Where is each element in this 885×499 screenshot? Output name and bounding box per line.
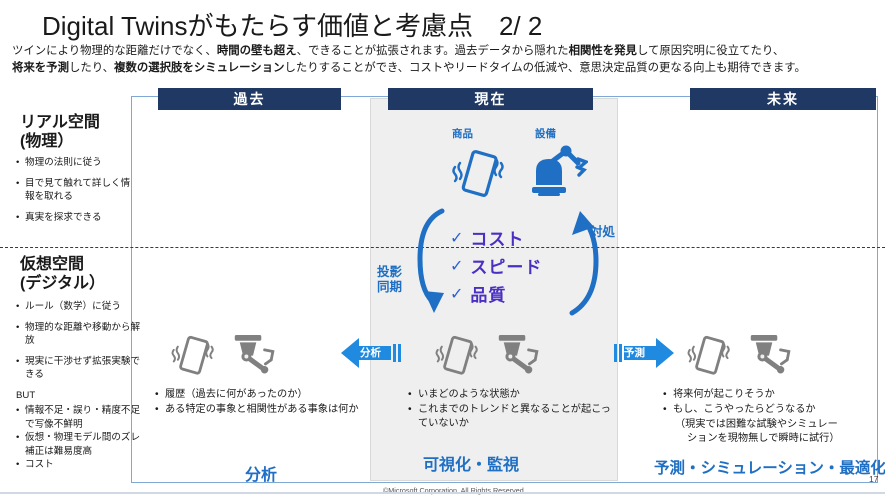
subtitle-bold-1: 時間の壁も超え: [217, 45, 297, 57]
center-goods-label: 商品: [452, 126, 473, 141]
benefit-check-list: ✓ コスト ✓ スピード ✓ 品質: [450, 225, 542, 309]
bullet-icon: •: [16, 300, 25, 314]
future-bottom-label: 予測・シミュレーション・最適化: [654, 456, 885, 478]
check-icon: ✓: [450, 284, 463, 304]
forecast-arrow-label: 予測: [624, 345, 645, 360]
list-item: •ある特定の事象と相関性がある事象は何か: [155, 403, 365, 417]
sidebar-list-virtual: •ルール（数学）に従う •物理的な距離や移動から解放 •現実に干渉せず拡張実験で…: [16, 300, 141, 472]
sidebar-real-item-0: 物理の法則に従う: [25, 156, 136, 170]
analysis-arrow-label: 分析: [360, 345, 381, 360]
page-title: Digital Twinsがもたらす価値と考慮点 2/ 2: [42, 6, 542, 43]
bullet-icon: •: [16, 431, 25, 458]
present-item-0: いまどのような状態か: [418, 388, 613, 402]
slide-root: Digital Twinsがもたらす価値と考慮点 2/ 2 ツインにより物理的な…: [0, 0, 885, 499]
sidebar-but-label: BUT: [16, 389, 141, 403]
subtitle-seg-5: したりすることができ、コストやリードタイムの低減や、意思決定品質の更なる向上も期…: [284, 62, 805, 74]
subtitle-bold-4: 複数の選択肢をシミュレーション: [114, 62, 284, 74]
subtitle-seg-1: ツインにより物理的な距離だけでなく、: [12, 45, 217, 57]
sidebar-heading-real-line1: リアル空間: [20, 113, 100, 132]
present-bullet-block: •いまどのような状態か •これまでのトレンドと異なることが起こっていないか: [408, 388, 613, 432]
column-header-future: 未来: [690, 88, 876, 110]
handle-arrow-icon: [558, 205, 606, 317]
sidebar-heading-virtual-line2: (デジタル）: [20, 274, 105, 293]
robot-arm-icon: [228, 330, 278, 378]
past-bullet-block: •履歴（過去に何があったのか） •ある特定の事象と相関性がある事象は何か: [155, 388, 365, 418]
smartphone-icon: [448, 143, 504, 201]
robot-arm-icon: [492, 330, 542, 378]
list-item: •将来何が起こりそうか: [663, 388, 878, 402]
flow-label-projection: 投影 同期: [377, 265, 402, 295]
slide-subtitle: ツインにより物理的な距離だけでなく、時間の壁も超え、できることが拡張されます。過…: [12, 43, 878, 77]
bullet-icon: •: [155, 403, 165, 417]
sidebar-real-item-2: 真実を探求できる: [25, 211, 136, 225]
subtitle-bold-3: 将来を予測: [12, 62, 69, 74]
bullet-icon: •: [16, 321, 25, 348]
past-item-1: ある特定の事象と相関性がある事象は何か: [165, 403, 365, 417]
robot-arm-icon: [528, 143, 588, 201]
past-bottom-label: 分析: [245, 461, 277, 485]
bullet-icon: •: [663, 388, 673, 402]
list-item: •物理の法則に従う: [16, 156, 136, 170]
flow-projection-line1: 投影: [377, 265, 402, 280]
column-header-present: 現在: [388, 88, 593, 110]
sidebar-virtual-item-1: 物理的な距離や移動から解放: [25, 321, 141, 348]
benefit-item-2: 品質: [470, 281, 506, 306]
column-header-past: 過去: [158, 88, 341, 110]
sidebar-heading-virtual: 仮想空間 (デジタル）: [20, 255, 105, 293]
list-item: •目で見て触れて詳しく情報を取れる: [16, 177, 136, 204]
bullet-icon: •: [663, 403, 673, 417]
bullet-icon: •: [16, 177, 25, 204]
sidebar-but-list: •情報不足・誤り・精度不足で写像不鮮明 •仮想・物理モデル間のズレ補正は難易度高…: [16, 404, 141, 472]
list-item: •仮想・物理モデル間のズレ補正は難易度高: [16, 431, 141, 458]
bullet-icon: •: [155, 388, 165, 402]
sidebar-but-item-0: 情報不足・誤り・精度不足で写像不鮮明: [25, 404, 141, 431]
check-icon: ✓: [450, 228, 463, 248]
list-item: •ルール（数学）に従う: [16, 300, 141, 314]
future-sub-line2: ションを現物無しで瞬時に試行）: [663, 432, 878, 446]
sidebar-list-real: •物理の法則に従う •目で見て触れて詳しく情報を取れる •真実を探求できる: [16, 156, 136, 231]
smartphone-icon: [432, 330, 478, 378]
sidebar-but-item-2: コスト: [25, 458, 141, 472]
sidebar-heading-virtual-line1: 仮想空間: [20, 255, 105, 274]
flow-projection-line2: 同期: [377, 280, 402, 295]
benefit-item-1: スピード: [470, 253, 542, 278]
list-item: •コスト: [16, 458, 141, 472]
list-item: •いまどのような状態か: [408, 388, 613, 402]
center-equip-label: 設備: [535, 126, 556, 141]
subtitle-bold-2: 相関性を発見: [569, 45, 637, 57]
list-item: •これまでのトレンドと異なることが起こっていないか: [408, 403, 613, 431]
bullet-icon: •: [408, 388, 418, 402]
subtitle-seg-4: したり、: [69, 62, 114, 74]
sidebar-heading-real-line2: (物理）: [20, 132, 100, 151]
list-item: ✓ コスト: [450, 225, 542, 250]
bullet-icon: •: [408, 403, 418, 431]
check-icon: ✓: [450, 256, 463, 276]
future-bullet-block: •将来何が起こりそうか •もし、こうやったらどうなるか （現実では困難な試験やシ…: [663, 388, 878, 446]
benefit-item-0: コスト: [470, 225, 524, 250]
present-bottom-label: 可視化・監視: [423, 451, 519, 475]
future-item-0: 将来何が起こりそうか: [673, 388, 878, 402]
bullet-icon: •: [16, 458, 25, 472]
subtitle-seg-3: して原因究明に役立てたり、: [637, 45, 784, 57]
sidebar-virtual-item-0: ルール（数学）に従う: [25, 300, 141, 314]
bullet-icon: •: [16, 156, 25, 170]
list-item: •現実に干渉せず拡張実験できる: [16, 355, 141, 382]
sidebar-virtual-item-2: 現実に干渉せず拡張実験できる: [25, 355, 141, 382]
list-item: •履歴（過去に何があったのか）: [155, 388, 365, 402]
sidebar-but-item-1: 仮想・物理モデル間のズレ補正は難易度高: [25, 431, 141, 458]
page-number: 17: [869, 474, 878, 484]
smartphone-icon: [168, 330, 214, 378]
future-sub-line1: （現実では困難な試験やシミュレー: [663, 418, 878, 432]
present-item-1: これまでのトレンドと異なることが起こっていないか: [418, 403, 613, 431]
list-item: ✓ スピード: [450, 253, 542, 278]
flow-label-handle: 対処: [590, 225, 615, 240]
smartphone-icon: [684, 330, 730, 378]
robot-arm-icon: [744, 330, 794, 378]
subtitle-seg-2: 、できることが拡張されます。過去データから隠れた: [297, 45, 569, 57]
list-item: •物理的な距離や移動から解放: [16, 321, 141, 348]
future-item-1: もし、こうやったらどうなるか: [673, 403, 878, 417]
list-item: ✓ 品質: [450, 281, 542, 306]
bullet-icon: •: [16, 211, 25, 225]
past-item-0: 履歴（過去に何があったのか）: [165, 388, 365, 402]
list-item: •真実を探求できる: [16, 211, 136, 225]
bullet-icon: •: [16, 355, 25, 382]
list-item: •もし、こうやったらどうなるか: [663, 403, 878, 417]
list-item: •情報不足・誤り・精度不足で写像不鮮明: [16, 404, 141, 431]
bullet-icon: •: [16, 404, 25, 431]
sidebar-real-item-1: 目で見て触れて詳しく情報を取れる: [25, 177, 136, 204]
bottom-rule: [0, 492, 885, 494]
sidebar-heading-real: リアル空間 (物理）: [20, 113, 100, 151]
